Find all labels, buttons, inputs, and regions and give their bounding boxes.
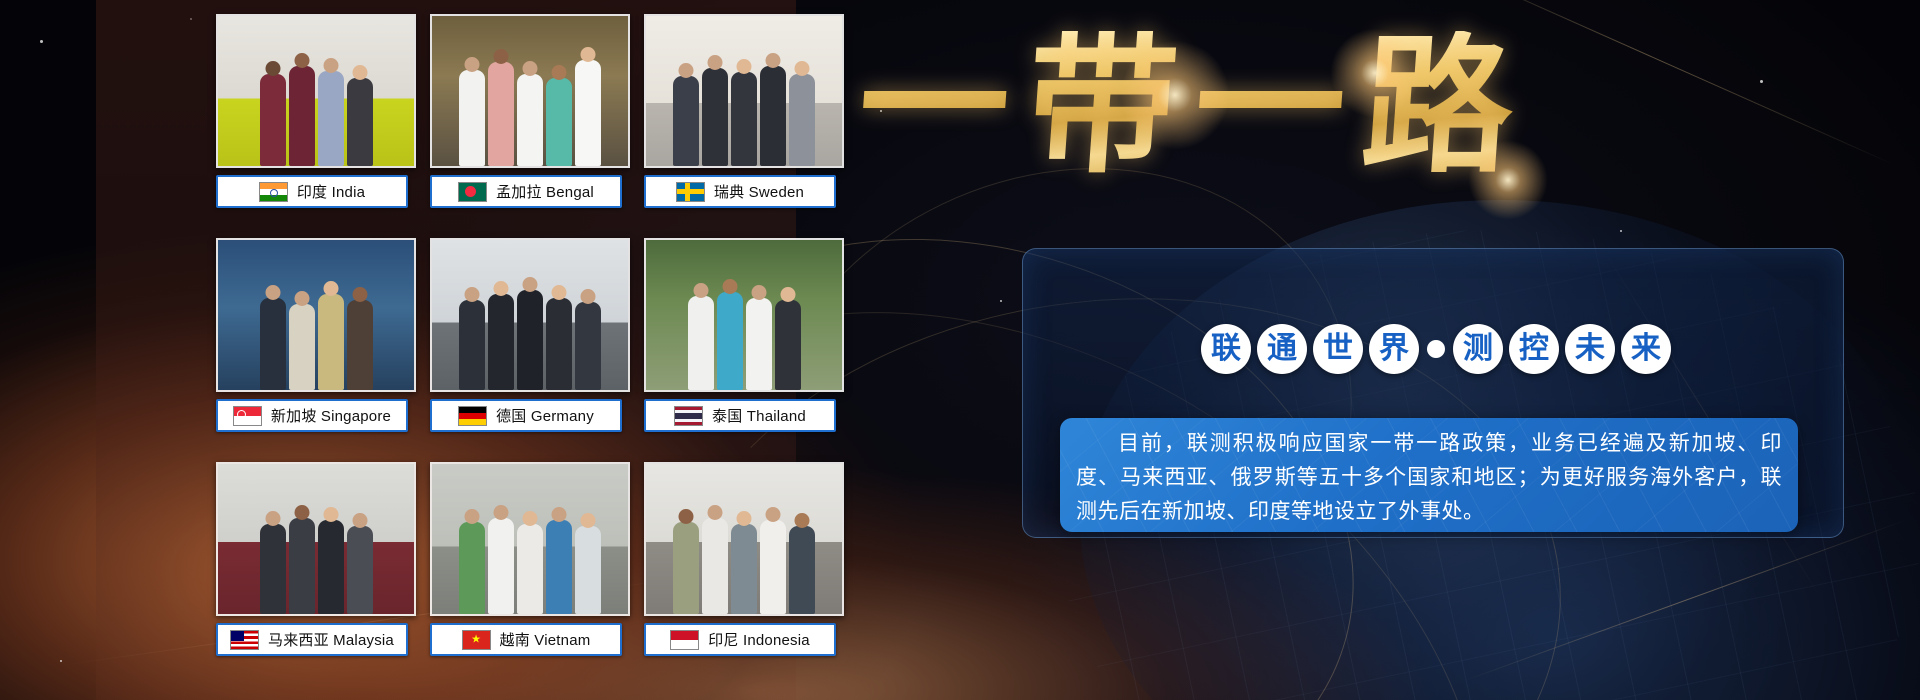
photo-caption: 孟加拉 Bengal xyxy=(430,175,622,208)
india-flag xyxy=(259,182,288,202)
slogan-char-bubble: 来 xyxy=(1621,324,1671,374)
thailand-flag xyxy=(674,406,703,426)
photo-caption: 印尼 Indonesia xyxy=(644,623,836,656)
slogan-char-bubble: 联 xyxy=(1201,324,1251,374)
sweden-flag xyxy=(676,182,705,202)
malaysia-flag xyxy=(230,630,259,650)
description-paragraph-1: 目前，联测积极响应国家一带一路政策，业务已经遍及新加坡、印度、马来西亚、俄罗斯等… xyxy=(1076,426,1782,528)
slogan-separator-dot xyxy=(1427,340,1445,358)
photo-label: 德国 Germany xyxy=(496,405,594,426)
singapore-flag xyxy=(233,406,262,426)
description-paragraph-2: 联测，为国产仪表正名，为中国制造加分！ xyxy=(1076,528,1782,532)
vietnam-flag xyxy=(462,630,491,650)
photo-label: 瑞典 Sweden xyxy=(714,181,804,202)
photo-label: 印度 India xyxy=(297,181,365,202)
photo-card-singapore[interactable]: 新加坡 Singapore xyxy=(216,238,416,444)
photo-card-india[interactable]: 印度 India xyxy=(216,14,416,220)
photo-caption: 瑞典 Sweden xyxy=(644,175,836,208)
photo-caption: 印度 India xyxy=(216,175,408,208)
group-photo-bengal xyxy=(430,14,630,168)
calligraphy-char: 路 xyxy=(1358,31,1519,181)
photo-caption: 新加坡 Singapore xyxy=(216,399,408,432)
slogan-char-bubble: 控 xyxy=(1509,324,1559,374)
photo-card-germany[interactable]: 德国 Germany xyxy=(430,238,630,444)
photo-card-sweden[interactable]: 瑞典 Sweden xyxy=(644,14,844,220)
photo-label: 马来西亚 Malaysia xyxy=(268,629,394,650)
photo-caption: 德国 Germany xyxy=(430,399,622,432)
calligraphy-char: 带 xyxy=(1022,31,1183,181)
slogan-char-bubble: 通 xyxy=(1257,324,1307,374)
group-photo-thailand xyxy=(644,238,844,392)
photo-label: 越南 Vietnam xyxy=(500,629,591,650)
calligraphy-headline: 一 带 一 路 xyxy=(836,8,1536,204)
slogan-row: 联 通 世 界 测 控 未 来 xyxy=(1156,318,1716,380)
photo-card-indonesia[interactable]: 印尼 Indonesia xyxy=(644,462,844,668)
star-sparkle xyxy=(1760,80,1763,83)
group-photo-singapore xyxy=(216,238,416,392)
photo-card-vietnam[interactable]: 越南 Vietnam xyxy=(430,462,630,668)
description-text: 目前，联测积极响应国家一带一路政策，业务已经遍及新加坡、印度、马来西亚、俄罗斯等… xyxy=(1060,418,1798,532)
photo-label: 泰国 Thailand xyxy=(712,405,806,426)
photo-card-malaysia[interactable]: 马来西亚 Malaysia xyxy=(216,462,416,668)
slogan-char-bubble: 测 xyxy=(1453,324,1503,374)
photo-caption: 泰国 Thailand xyxy=(644,399,836,432)
slogan-char-bubble: 世 xyxy=(1313,324,1363,374)
photo-grid: 印度 India 孟加拉 Bengal xyxy=(216,14,876,684)
germany-flag xyxy=(458,406,487,426)
group-photo-malaysia xyxy=(216,462,416,616)
group-photo-india xyxy=(216,14,416,168)
star-sparkle xyxy=(1000,300,1002,302)
group-photo-vietnam xyxy=(430,462,630,616)
slogan-char-bubble: 界 xyxy=(1369,324,1419,374)
banner-stage: 印度 India 孟加拉 Bengal xyxy=(0,0,1920,700)
calligraphy-char: 一 xyxy=(1190,31,1351,181)
calligraphy-char: 一 xyxy=(854,31,1015,181)
group-photo-germany xyxy=(430,238,630,392)
description-box: 目前，联测积极响应国家一带一路政策，业务已经遍及新加坡、印度、马来西亚、俄罗斯等… xyxy=(1060,418,1798,532)
bangladesh-flag xyxy=(458,182,487,202)
group-photo-indonesia xyxy=(644,462,844,616)
photo-caption: 马来西亚 Malaysia xyxy=(216,623,408,656)
photo-card-thailand[interactable]: 泰国 Thailand xyxy=(644,238,844,444)
photo-label: 印尼 Indonesia xyxy=(708,629,810,650)
group-photo-sweden xyxy=(644,14,844,168)
star-sparkle xyxy=(1620,230,1622,232)
photo-label: 孟加拉 Bengal xyxy=(496,181,594,202)
slogan-char-bubble: 未 xyxy=(1565,324,1615,374)
photo-label: 新加坡 Singapore xyxy=(271,405,391,426)
photo-card-bengal[interactable]: 孟加拉 Bengal xyxy=(430,14,630,220)
photo-panel: 印度 India 孟加拉 Bengal xyxy=(96,0,796,700)
photo-caption: 越南 Vietnam xyxy=(430,623,622,656)
star-sparkle xyxy=(40,40,43,43)
star-sparkle xyxy=(60,660,62,662)
indonesia-flag xyxy=(670,630,699,650)
